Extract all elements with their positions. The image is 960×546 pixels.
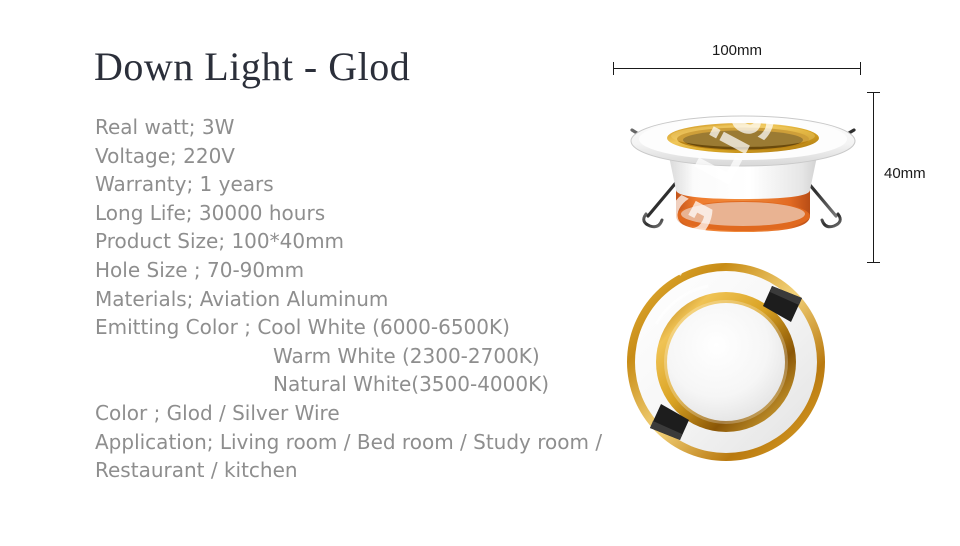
diffuser-face [667,303,785,421]
height-dimension-label: 40mm [884,165,926,182]
height-dimension-cap-top [867,92,880,93]
product-photo-front-view [622,262,840,467]
product-image-panel: 100mm 40mm [600,0,960,546]
width-dimension-label: 100mm [613,42,861,59]
height-dimension-line [873,92,874,262]
product-photo-side-view [618,108,868,258]
product-spec-page: Down Light - Glod Real watt; 3WVoltage; … [0,0,960,546]
width-dimension-cap-left [613,62,614,75]
page-title: Down Light - Glod [94,44,410,90]
width-dimension-cap-right [860,62,861,75]
gold-inner-ring [667,123,819,153]
width-dimension-line [613,68,861,69]
height-dimension-cap-bottom [867,262,880,263]
